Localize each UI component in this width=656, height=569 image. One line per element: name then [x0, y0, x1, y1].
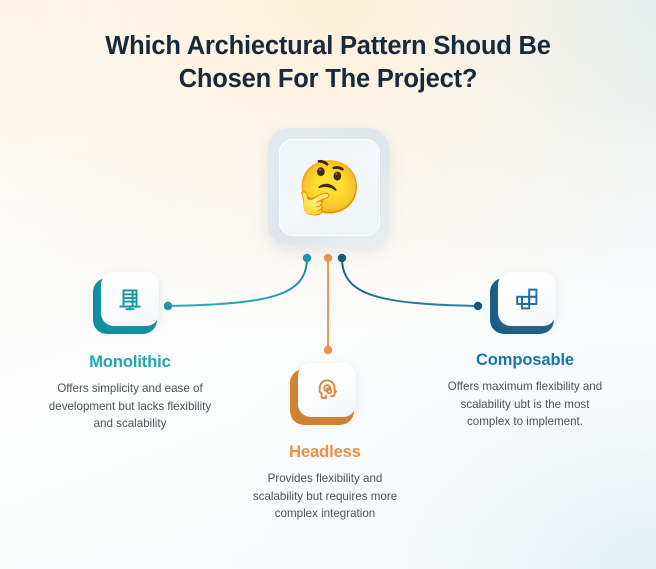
- tile-panel-headless: [298, 363, 356, 417]
- page-title: Which Archiectural Pattern Shoud Be Chos…: [0, 30, 656, 96]
- tile-panel-composable: [498, 272, 556, 326]
- composable-description: Offers maximum flexibility and scalabili…: [415, 378, 635, 431]
- connector-dot-headless: [324, 346, 332, 354]
- headless-text-block: Headless Provides flexibility and scalab…: [215, 442, 435, 523]
- connector-dot-center-right: [338, 254, 346, 262]
- monolithic-description: Offers simplicity and ease of developmen…: [20, 380, 240, 433]
- headless-description: Provides flexibility and scalability but…: [215, 470, 435, 523]
- monolithic-icon-tile[interactable]: [93, 272, 163, 334]
- monolithic-heading: Monolithic: [20, 352, 240, 372]
- connector-path-composable: [342, 258, 478, 306]
- tile-panel-monolithic: [101, 272, 159, 326]
- head-brain-icon: [314, 377, 340, 403]
- connector-dot-composable: [474, 302, 482, 310]
- headless-icon-tile[interactable]: [290, 363, 360, 425]
- building-icon: [117, 286, 143, 312]
- monolithic-text-block: Monolithic Offers simplicity and ease of…: [20, 352, 240, 433]
- infographic-canvas: Which Archiectural Pattern Shoud Be Chos…: [0, 0, 656, 569]
- connector-dot-monolithic: [164, 302, 172, 310]
- composable-icon-tile[interactable]: [490, 272, 560, 334]
- headless-heading: Headless: [215, 442, 435, 462]
- composable-heading: Composable: [415, 350, 635, 370]
- composable-text-block: Composable Offers maximum flexibility an…: [415, 350, 635, 431]
- connector-path-monolithic: [168, 258, 307, 306]
- connector-dot-center-left: [303, 254, 311, 262]
- composable-blocks-icon: [514, 286, 540, 312]
- thinking-face-emoji: 🤔: [297, 162, 362, 214]
- center-card[interactable]: 🤔: [268, 128, 389, 245]
- connector-dot-center-middle: [324, 254, 332, 262]
- center-card-panel: 🤔: [279, 139, 380, 236]
